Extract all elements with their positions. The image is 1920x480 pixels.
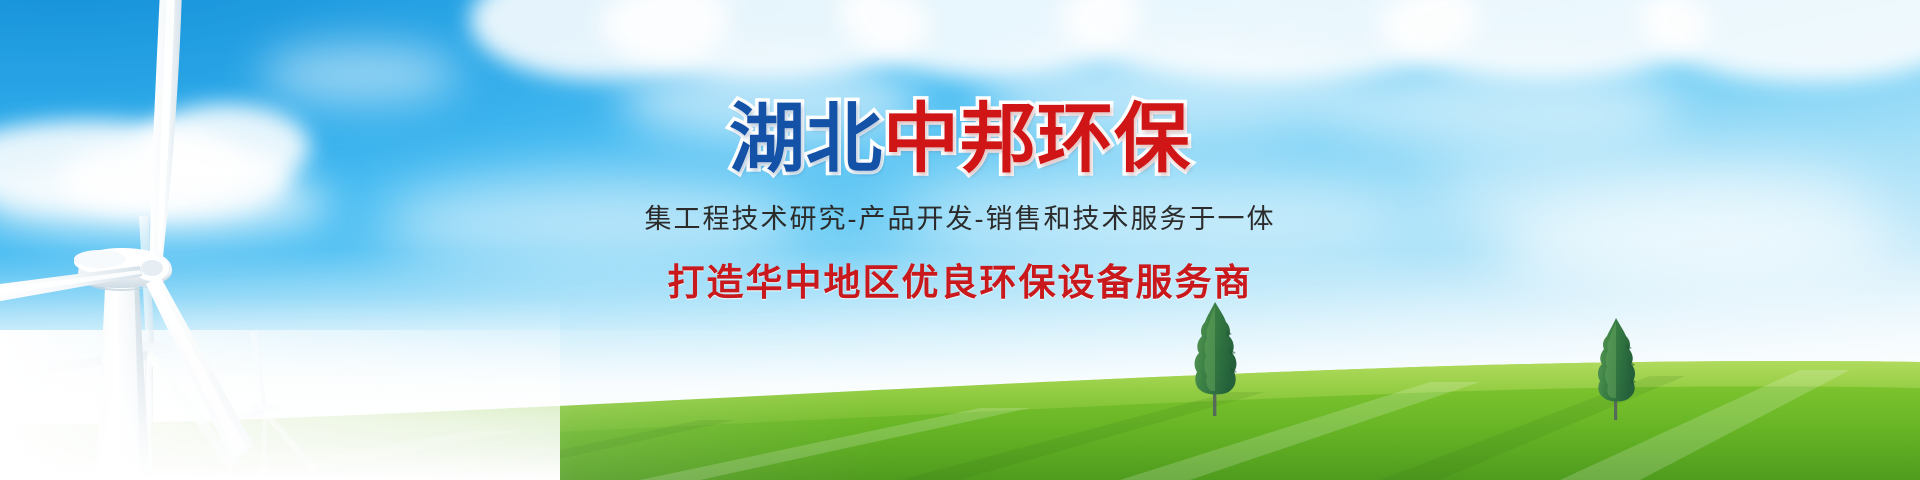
hero-banner: 湖北中邦环保 集工程技术研究-产品开发-销售和技术服务于一体 打造华中地区优良环… [0, 0, 1920, 480]
cloud-shape [1500, 200, 1900, 290]
cloud-shape [900, 168, 1420, 264]
wind-turbine-group [0, 0, 560, 480]
conifer-tree-left [1186, 300, 1244, 416]
cloud-shape [980, 46, 1360, 138]
cloud-shape [620, 58, 920, 142]
conifer-tree-right [1590, 316, 1642, 420]
cloud-shape [1320, 64, 1680, 150]
